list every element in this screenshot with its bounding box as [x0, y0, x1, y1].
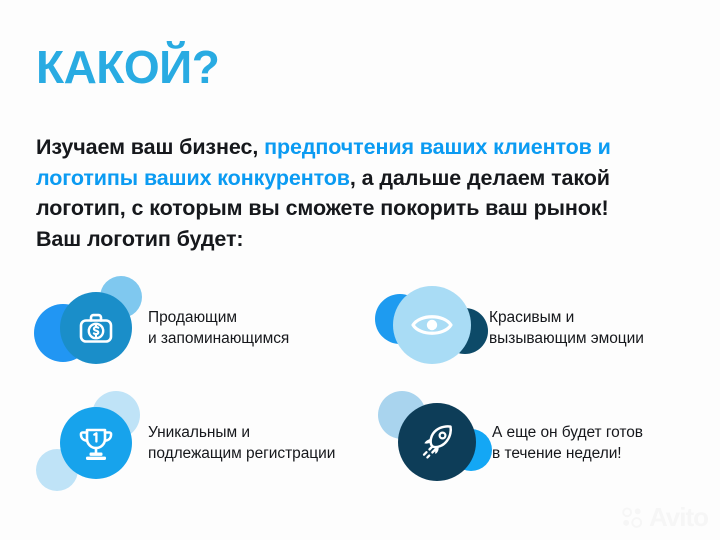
- avito-watermark: Avito: [621, 504, 708, 530]
- feature-label: Продающим и запоминающимся: [148, 308, 289, 348]
- feature-item-fast-delivery: А еще он будет готов в течение недели!: [378, 391, 643, 496]
- rocket-icon: [398, 403, 476, 481]
- feature-label: А еще он будет готов в течение недели!: [492, 423, 643, 463]
- feature-icon-cluster: [375, 276, 487, 381]
- trophy-first-place-icon: [60, 407, 132, 479]
- feature-label: Красивым и вызывающим эмоции: [489, 308, 644, 348]
- page-title: КАКОЙ?: [36, 44, 219, 90]
- slide-canvas: КАКОЙ? Изучаем ваш бизнес, предпочтения …: [0, 0, 720, 540]
- lead-part-1: Изучаем ваш бизнес,: [36, 135, 264, 159]
- lead-paragraph: Изучаем ваш бизнес, предпочтения ваших к…: [36, 132, 646, 254]
- feature-icon-cluster: [34, 391, 146, 496]
- eye-icon: [393, 286, 471, 364]
- feature-icon-cluster: [378, 391, 490, 496]
- feature-list: Продающим и запоминающимся Красивым и вы…: [30, 276, 720, 506]
- feature-icon-cluster: [34, 276, 146, 381]
- feature-label: Уникальным и подлежащим регистрации: [148, 423, 335, 463]
- briefcase-dollar-icon: [60, 292, 132, 364]
- avito-wordmark: Avito: [649, 504, 708, 530]
- avito-dots-logo: [621, 506, 644, 529]
- feature-item-selling: Продающим и запоминающимся: [34, 276, 289, 381]
- feature-item-unique: Уникальным и подлежащим регистрации: [34, 391, 335, 496]
- feature-item-beautiful: Красивым и вызывающим эмоции: [375, 276, 644, 381]
